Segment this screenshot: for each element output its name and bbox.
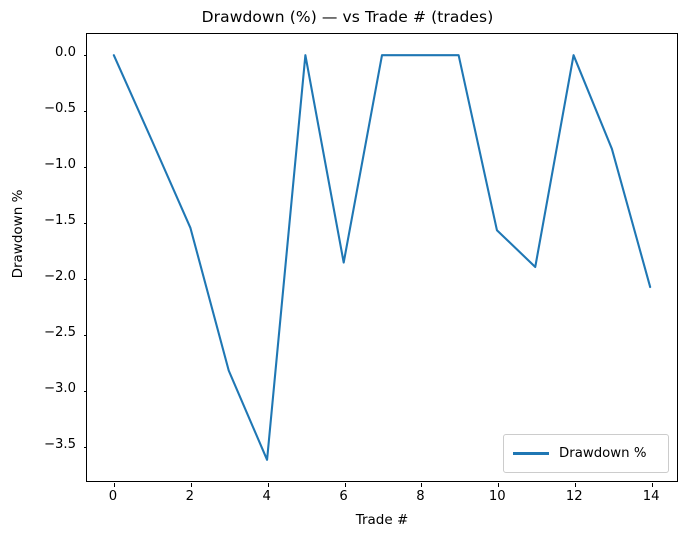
x-tick-mark — [345, 483, 346, 487]
x-tick-label: 0 — [109, 489, 117, 504]
line-series-svg — [87, 34, 677, 481]
y-tick-label: −3.0 — [30, 381, 76, 396]
x-tick-label: 12 — [566, 489, 583, 504]
y-tick-mark — [84, 111, 88, 112]
y-tick-label: −0.5 — [30, 101, 76, 116]
y-tick-label: 0.0 — [30, 45, 76, 60]
x-tick-mark — [268, 483, 269, 487]
y-tick-label: −2.0 — [30, 269, 76, 284]
legend-label-drawdown: Drawdown % — [559, 446, 646, 461]
chart-title: Drawdown (%) — vs Trade # (trades) — [0, 8, 695, 26]
x-tick-mark — [421, 483, 422, 487]
y-tick-label: −3.5 — [30, 437, 76, 452]
y-tick-label: −2.5 — [30, 325, 76, 340]
plot-area — [86, 33, 678, 482]
x-tick-label: 14 — [643, 489, 660, 504]
x-tick-mark — [652, 483, 653, 487]
y-tick-mark — [84, 391, 88, 392]
y-tick-mark — [84, 279, 88, 280]
x-tick-label: 10 — [489, 489, 506, 504]
y-tick-mark — [84, 223, 88, 224]
x-tick-mark — [575, 483, 576, 487]
y-tick-mark — [84, 55, 88, 56]
x-tick-label: 6 — [339, 489, 347, 504]
x-tick-mark — [498, 483, 499, 487]
y-tick-mark — [84, 335, 88, 336]
x-tick-mark — [191, 483, 192, 487]
x-axis-label: Trade # — [86, 512, 678, 528]
y-tick-mark — [84, 447, 88, 448]
legend-line-swatch-drawdown — [513, 452, 549, 455]
y-tick-label: −1.0 — [30, 157, 76, 172]
y-tick-label: −1.5 — [30, 213, 76, 228]
y-axis-label: Drawdown % — [10, 134, 26, 334]
y-tick-mark — [84, 167, 88, 168]
x-tick-label: 4 — [262, 489, 270, 504]
chart-legend: Drawdown % — [503, 434, 669, 473]
x-tick-label: 2 — [186, 489, 194, 504]
chart-figure: Drawdown (%) — vs Trade # (trades) 0.0−0… — [0, 0, 695, 546]
series-drawdown-line — [114, 55, 650, 460]
x-tick-label: 8 — [416, 489, 424, 504]
x-tick-mark — [114, 483, 115, 487]
